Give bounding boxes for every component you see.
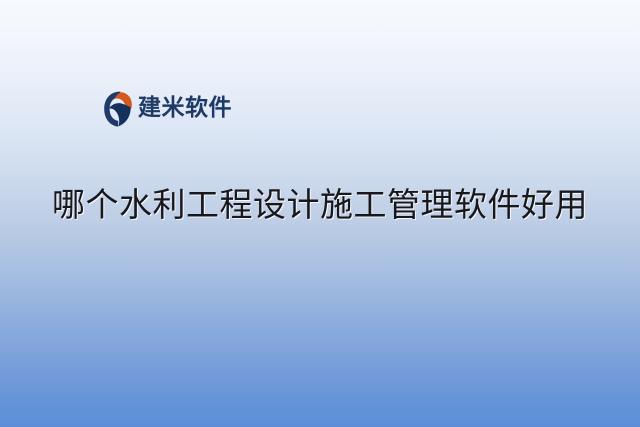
jianmi-logo-icon — [103, 91, 133, 127]
brand-logo[interactable]: 建米软件 — [103, 91, 232, 127]
page-title: 哪个水利工程设计施工管理软件好用 — [0, 183, 640, 227]
brand-wordmark: 建米软件 — [138, 97, 232, 121]
promo-banner: 建米软件 哪个水利工程设计施工管理软件好用 — [0, 0, 640, 427]
